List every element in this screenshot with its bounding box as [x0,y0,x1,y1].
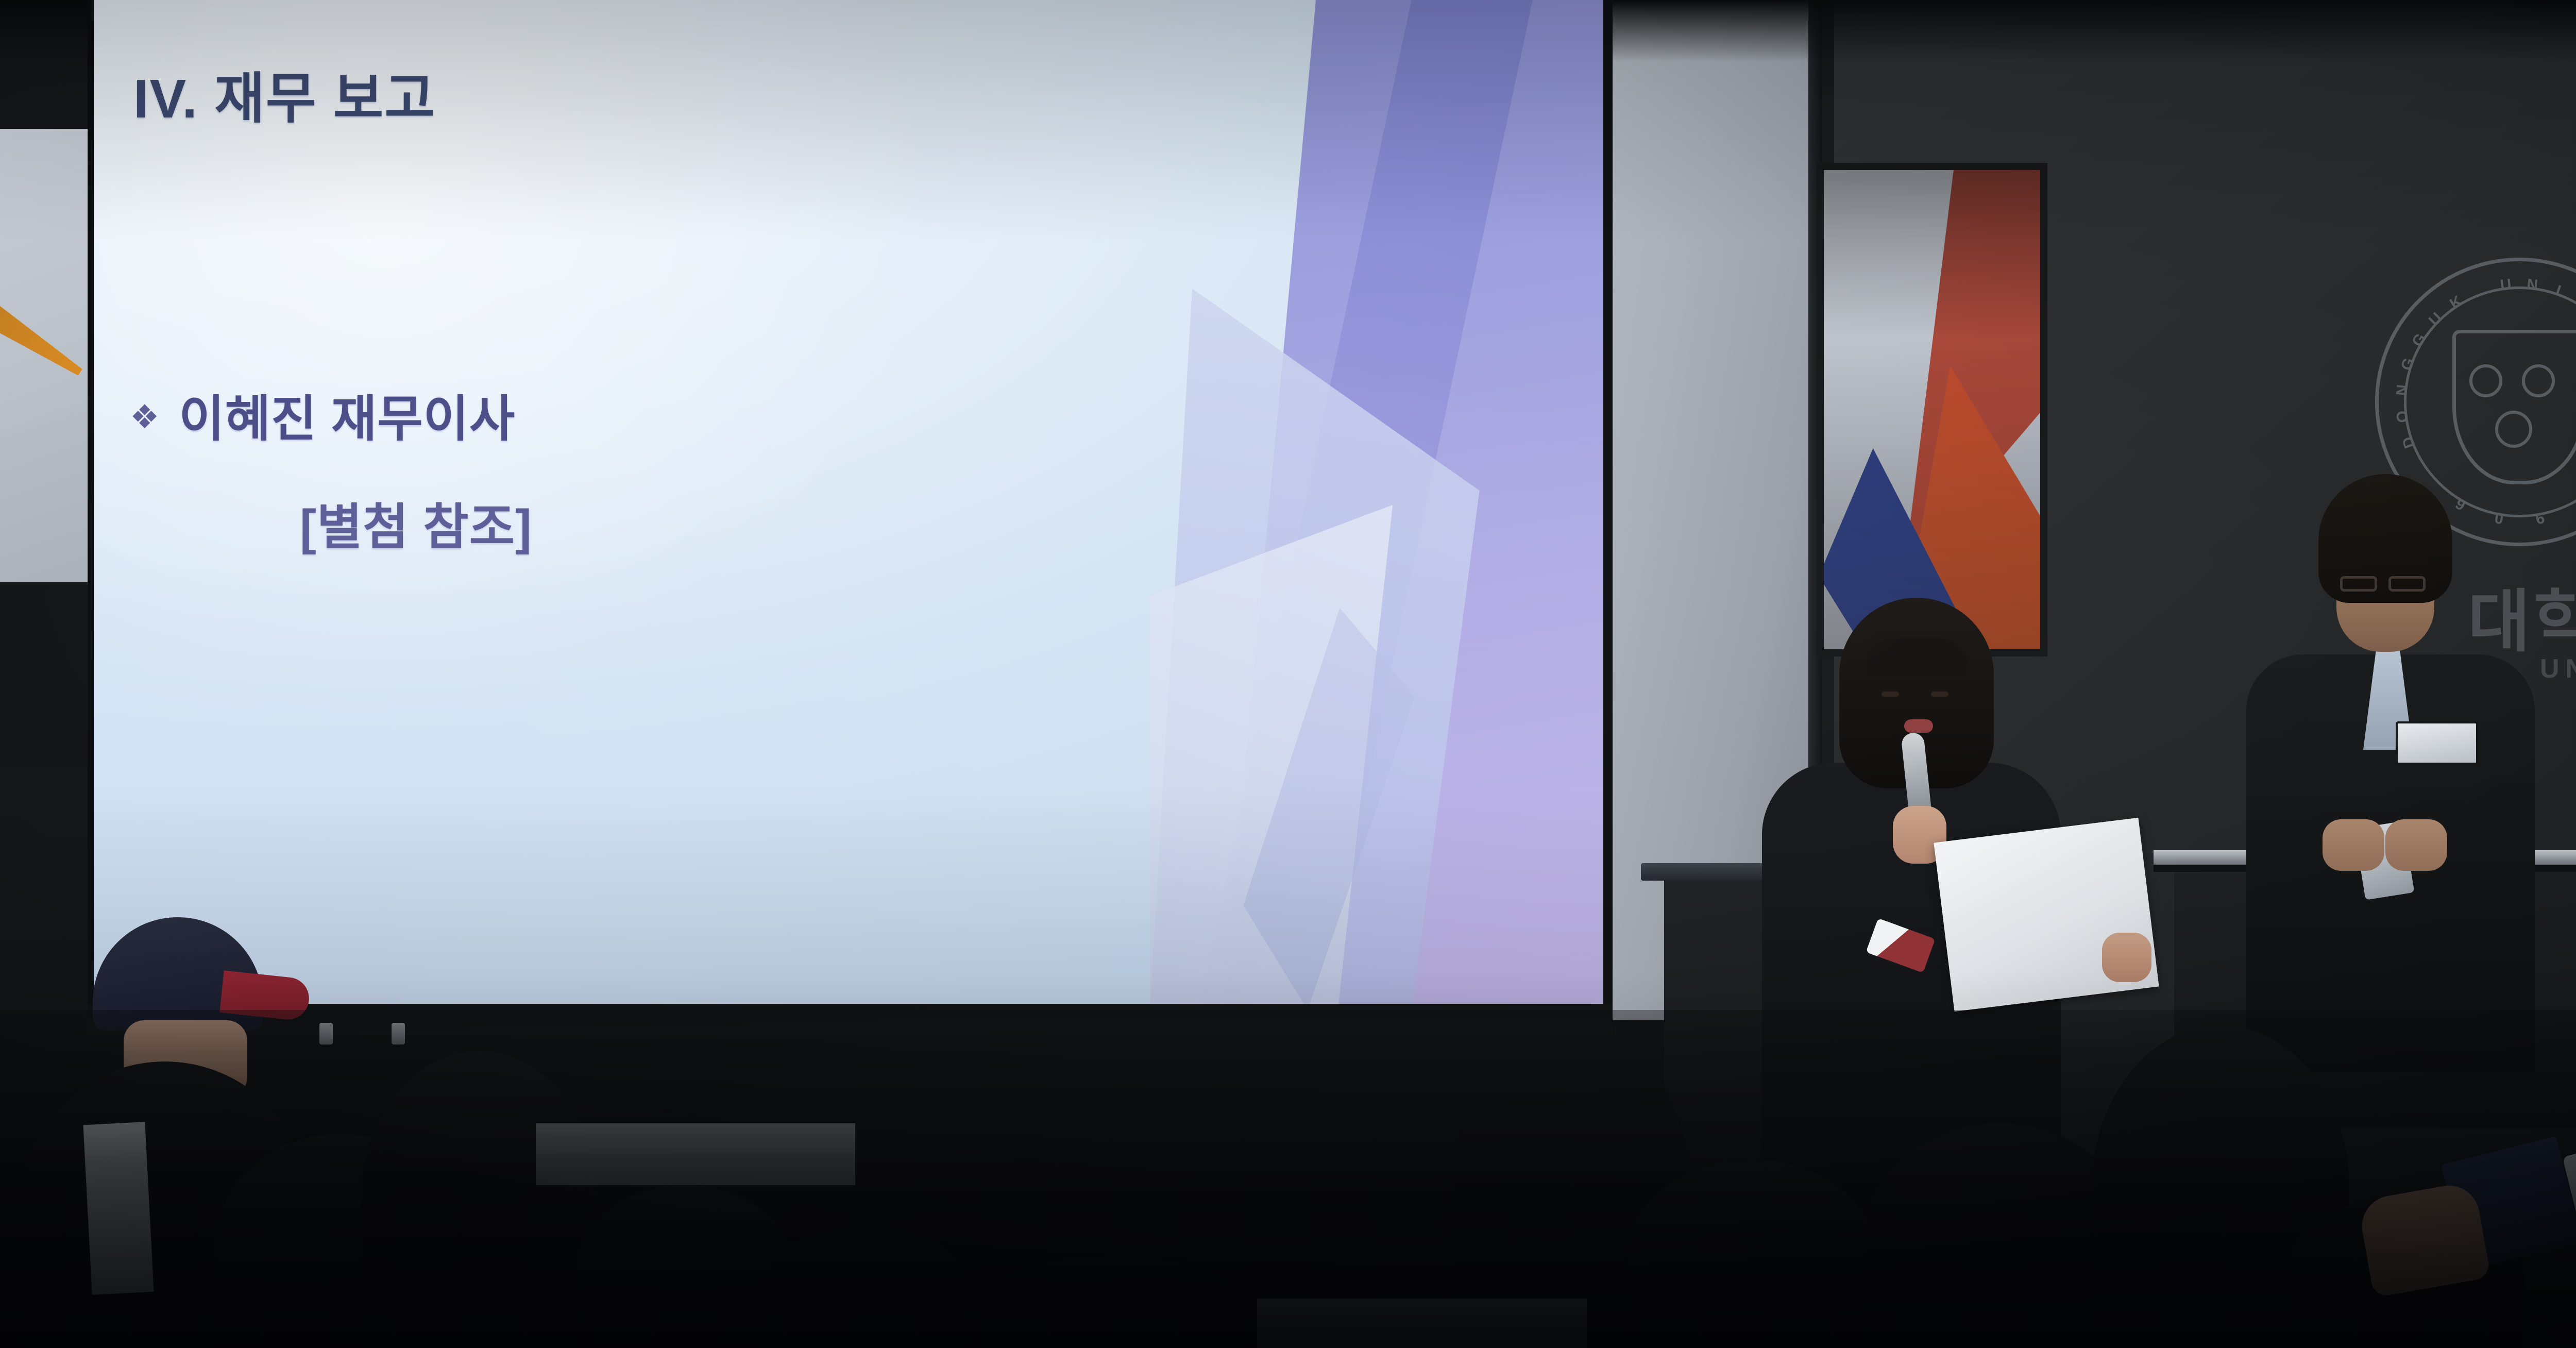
seal-ring-char: D [2399,434,2419,451]
presentation-photo: IV. 재무 보고 ❖ 이혜진 재무이사 [별첨 참조] DONGGUK UNI… [0,0,2576,1348]
presenter-handout-paper [1934,818,2159,1012]
presenter-eye-left [1882,692,1899,697]
presenter-bangs [1865,638,1969,678]
seal-ring-char: N [2526,276,2539,294]
slide-bullet-row: ❖ 이혜진 재무이사 [130,379,515,450]
attendee-glasses-left [2340,576,2377,592]
seal-ring-char: I [2553,282,2564,300]
seal-ring-char: G [2398,355,2418,373]
attendee-hand-right [2385,819,2447,871]
attendee-hair [2318,474,2452,603]
banner-shadow [1824,170,2040,649]
seal-ring-char: U [2426,309,2446,330]
ribbon-banner [1824,170,2040,649]
slide-title: IV. 재무 보고 [133,54,436,133]
seal-ring-char: O [2393,409,2412,424]
seal-ring-char: V [2573,292,2576,313]
presenter-mouth [1904,719,1933,733]
attendee-name-badge [2396,721,2478,765]
seal-ring-char: 1 [2570,494,2576,513]
projection-screen: IV. 재무 보고 ❖ 이혜진 재무이사 [별첨 참조] [94,0,1603,1005]
slide-sub-line: [별첨 참조] [300,487,532,559]
presenter-hand-paper [2102,933,2151,982]
attendee-glasses-right [2388,576,2426,592]
slide-bullet-text: 이혜진 재무이사 [179,379,515,450]
seal-ring-char: N [2393,383,2412,397]
attendee-hand-left [2323,819,2384,871]
poster-ray-shape [0,275,89,385]
seal-ring-char: U [2499,276,2513,294]
diamond-bullet-icon: ❖ [130,400,159,433]
presenter-eye-right [1931,692,1948,697]
male-attendee [2231,464,2550,1072]
foreground-shadow [0,1010,2576,1348]
seal-ring-char: K [2447,292,2466,313]
seal-ring-char: G [2409,330,2430,350]
